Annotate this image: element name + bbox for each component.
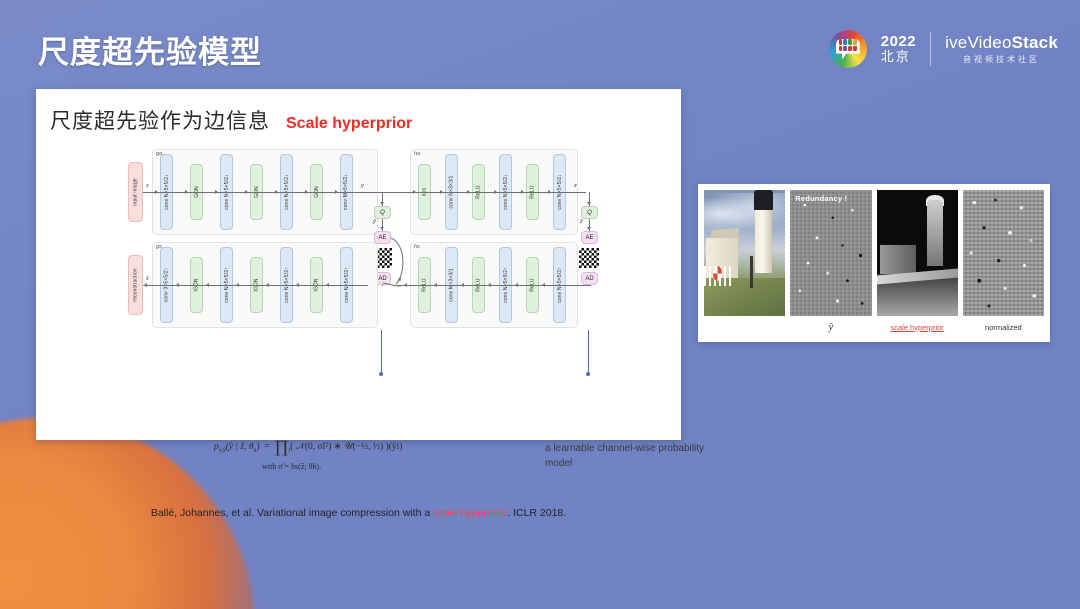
citation-prefix: Ballé, Johannes, et al. Variational imag…	[151, 507, 433, 519]
decoder-arrow-0	[144, 283, 147, 287]
decoder-arrow-4	[266, 283, 269, 287]
probability-formula: pŷ|ẑ(ŷ | ẑ, θh) = ∏i( 𝒩(0, σ̃i²) ∗ 𝒰(−½,…	[214, 437, 544, 471]
reconstruction-block: reconstruction	[128, 255, 143, 315]
hyper-decoder-group-tag: hs	[414, 244, 420, 250]
formula-args: (ŷ | ẑ, θ	[226, 442, 254, 452]
encoder-wire	[143, 192, 358, 193]
encoder-arrow-5	[305, 190, 308, 194]
encoder-arrow-3	[245, 190, 248, 194]
arithmetic-decoder-z-block: AD	[581, 272, 598, 285]
decoder-arrow-6	[326, 283, 329, 287]
formula-lhs-sub: ŷ|ẑ	[219, 448, 226, 454]
sample-caption-y-hat: ŷ	[790, 322, 871, 333]
formula-equals: =	[264, 442, 269, 452]
z-down-arrow	[587, 202, 591, 205]
symbol-y-hat-top: ŷ	[373, 219, 376, 225]
sample-normalized	[963, 190, 1044, 316]
latent-speckle-texture	[790, 190, 871, 316]
encoder-arrow-6	[335, 190, 338, 194]
brand-logo: iveVideoStack 音视频技术社区	[945, 33, 1058, 65]
bitstream-z-icon	[579, 248, 599, 268]
photo-post	[750, 256, 752, 289]
arithmetic-encoder-z-label: AE	[585, 235, 593, 241]
slide-content-card: 尺度超先验作为边信息 Scale hyperprior ga input ima…	[36, 89, 681, 440]
arithmetic-decoder-z-label: AD	[585, 276, 593, 282]
hyper-decoder-arrow-4	[515, 283, 518, 287]
sample-scale-hyperprior	[877, 190, 958, 316]
card-heading: 尺度超先验作为边信息 Scale hyperprior	[50, 105, 412, 135]
formula-with-line: with σ̃ = hs(ẑ; θh).	[262, 462, 544, 471]
pointer-line-note	[588, 330, 589, 374]
sample-caption-normalized: normalized	[963, 323, 1044, 332]
page-title: 尺度超先验模型	[38, 27, 262, 72]
hyper-decoder-arrow-2	[461, 283, 464, 287]
sample-caption-scale-hyperprior: scale hyperprior	[877, 323, 958, 332]
sigma-to-coder-wire	[381, 280, 403, 292]
sample-images-panel: Redundancy ! ŷ scale hyperprior normaliz…	[698, 184, 1050, 342]
y-down-arrow	[380, 202, 384, 205]
hyper-decoder-wire	[396, 285, 591, 286]
hyper-decoder-arrow-1	[434, 283, 437, 287]
brand-name-bold: Stack	[1012, 33, 1058, 52]
brand-bar: 2022 北京 iveVideoStack 音视频技术社区	[829, 30, 1058, 68]
input-image-label: input image	[133, 178, 139, 205]
citation-highlight: scale hyperprior	[433, 507, 507, 519]
hyper-encoder-arrow-5	[548, 190, 551, 194]
decoder-arrow-2	[206, 283, 209, 287]
sample-captions-row: ŷ scale hyperprior normalized	[704, 316, 1044, 338]
card-heading-en: Scale hyperprior	[286, 115, 412, 133]
symbol-x-hat: x̂	[146, 276, 149, 282]
photo-life-ring	[713, 266, 722, 281]
symbol-x: x	[146, 183, 149, 189]
decoder-arrow-3	[236, 283, 239, 287]
probability-model-note: a learnable channel-wise probability mod…	[545, 442, 705, 471]
sample-latent-y-hat: Redundancy !	[790, 190, 871, 316]
pointer-dot-note	[586, 372, 590, 376]
hyper-encoder-arrow-0	[413, 190, 416, 194]
encoder-arrow-4	[275, 190, 278, 194]
pointer-line-formula	[381, 330, 382, 374]
photo-lighthouse-lantern	[754, 190, 773, 210]
symbol-y: y	[361, 183, 364, 189]
q-to-ae-arrow-top	[380, 227, 384, 230]
symbol-z-hat-top: ẑ	[580, 219, 583, 225]
brand-name-thin: iveVideo	[945, 33, 1012, 52]
formula-body: ( 𝒩(0, σ̃i²) ∗ 𝒰(−½, ½) )(ŷi)	[290, 442, 402, 452]
qz-to-aez-arrow	[587, 227, 591, 230]
y-branch-wire	[358, 192, 383, 193]
event-city: 北京	[881, 50, 916, 65]
symbol-z: z	[574, 183, 577, 189]
quantizer-y-label: Q	[380, 210, 385, 216]
citation-suffix: . ICLR 2018.	[507, 507, 566, 519]
redundancy-label: Redundancy !	[795, 194, 847, 203]
scale-lighthouse-tower	[927, 200, 943, 266]
decoder-arrow-1	[176, 283, 179, 287]
pointer-dot-formula	[379, 372, 383, 376]
formula-product: ∏	[275, 437, 289, 456]
quantizer-z-block: Q	[581, 206, 598, 219]
hyper-decoder-arrow-5	[542, 283, 545, 287]
encoder-arrow-2	[215, 190, 218, 194]
quantizer-z-label: Q	[587, 210, 592, 216]
arithmetic-encoder-z-block: AE	[581, 231, 598, 244]
quantizer-y-block: Q	[374, 206, 391, 219]
card-heading-cn: 尺度超先验作为边信息	[50, 105, 270, 135]
normalized-noise-texture	[963, 190, 1044, 316]
hyper-encoder-group-tag: ha	[414, 151, 420, 157]
encoder-arrow-1	[185, 190, 188, 194]
event-logo-dots-icon	[839, 39, 857, 51]
hyper-decoder-arrow-3	[488, 283, 491, 287]
network-architecture-diagram: ga input image conv N×5×5/2↓ GDN conv N×…	[36, 144, 681, 384]
formula-main-line: pŷ|ẑ(ŷ | ẑ, θh) = ∏i( 𝒩(0, σ̃i²) ∗ 𝒰(−½,…	[214, 437, 544, 457]
hyper-encoder-arrow-4	[521, 190, 524, 194]
arithmetic-encoder-y-label: AE	[378, 235, 386, 241]
sample-images-strip: Redundancy !	[704, 190, 1044, 316]
sample-original-photo	[704, 190, 785, 316]
encoder-arrow-0	[155, 190, 158, 194]
event-year: 2022	[881, 33, 916, 50]
citation: Ballé, Johannes, et al. Variational imag…	[36, 507, 681, 519]
hyper-encoder-arrow-3	[494, 190, 497, 194]
decoder-arrow-5	[296, 283, 299, 287]
hyper-encoder-arrow-2	[467, 190, 470, 194]
input-image-block: input image	[128, 162, 143, 222]
brand-divider	[930, 32, 931, 66]
reconstruction-label: reconstruction	[133, 268, 139, 301]
hyper-encoder-arrow-1	[440, 190, 443, 194]
event-year-city: 2022 北京	[881, 33, 916, 65]
brand-tagline: 音视频技术社区	[945, 55, 1058, 65]
brand-name: iveVideoStack	[945, 33, 1058, 53]
event-logo-icon	[829, 30, 867, 68]
formula-args-end: )	[256, 442, 259, 452]
